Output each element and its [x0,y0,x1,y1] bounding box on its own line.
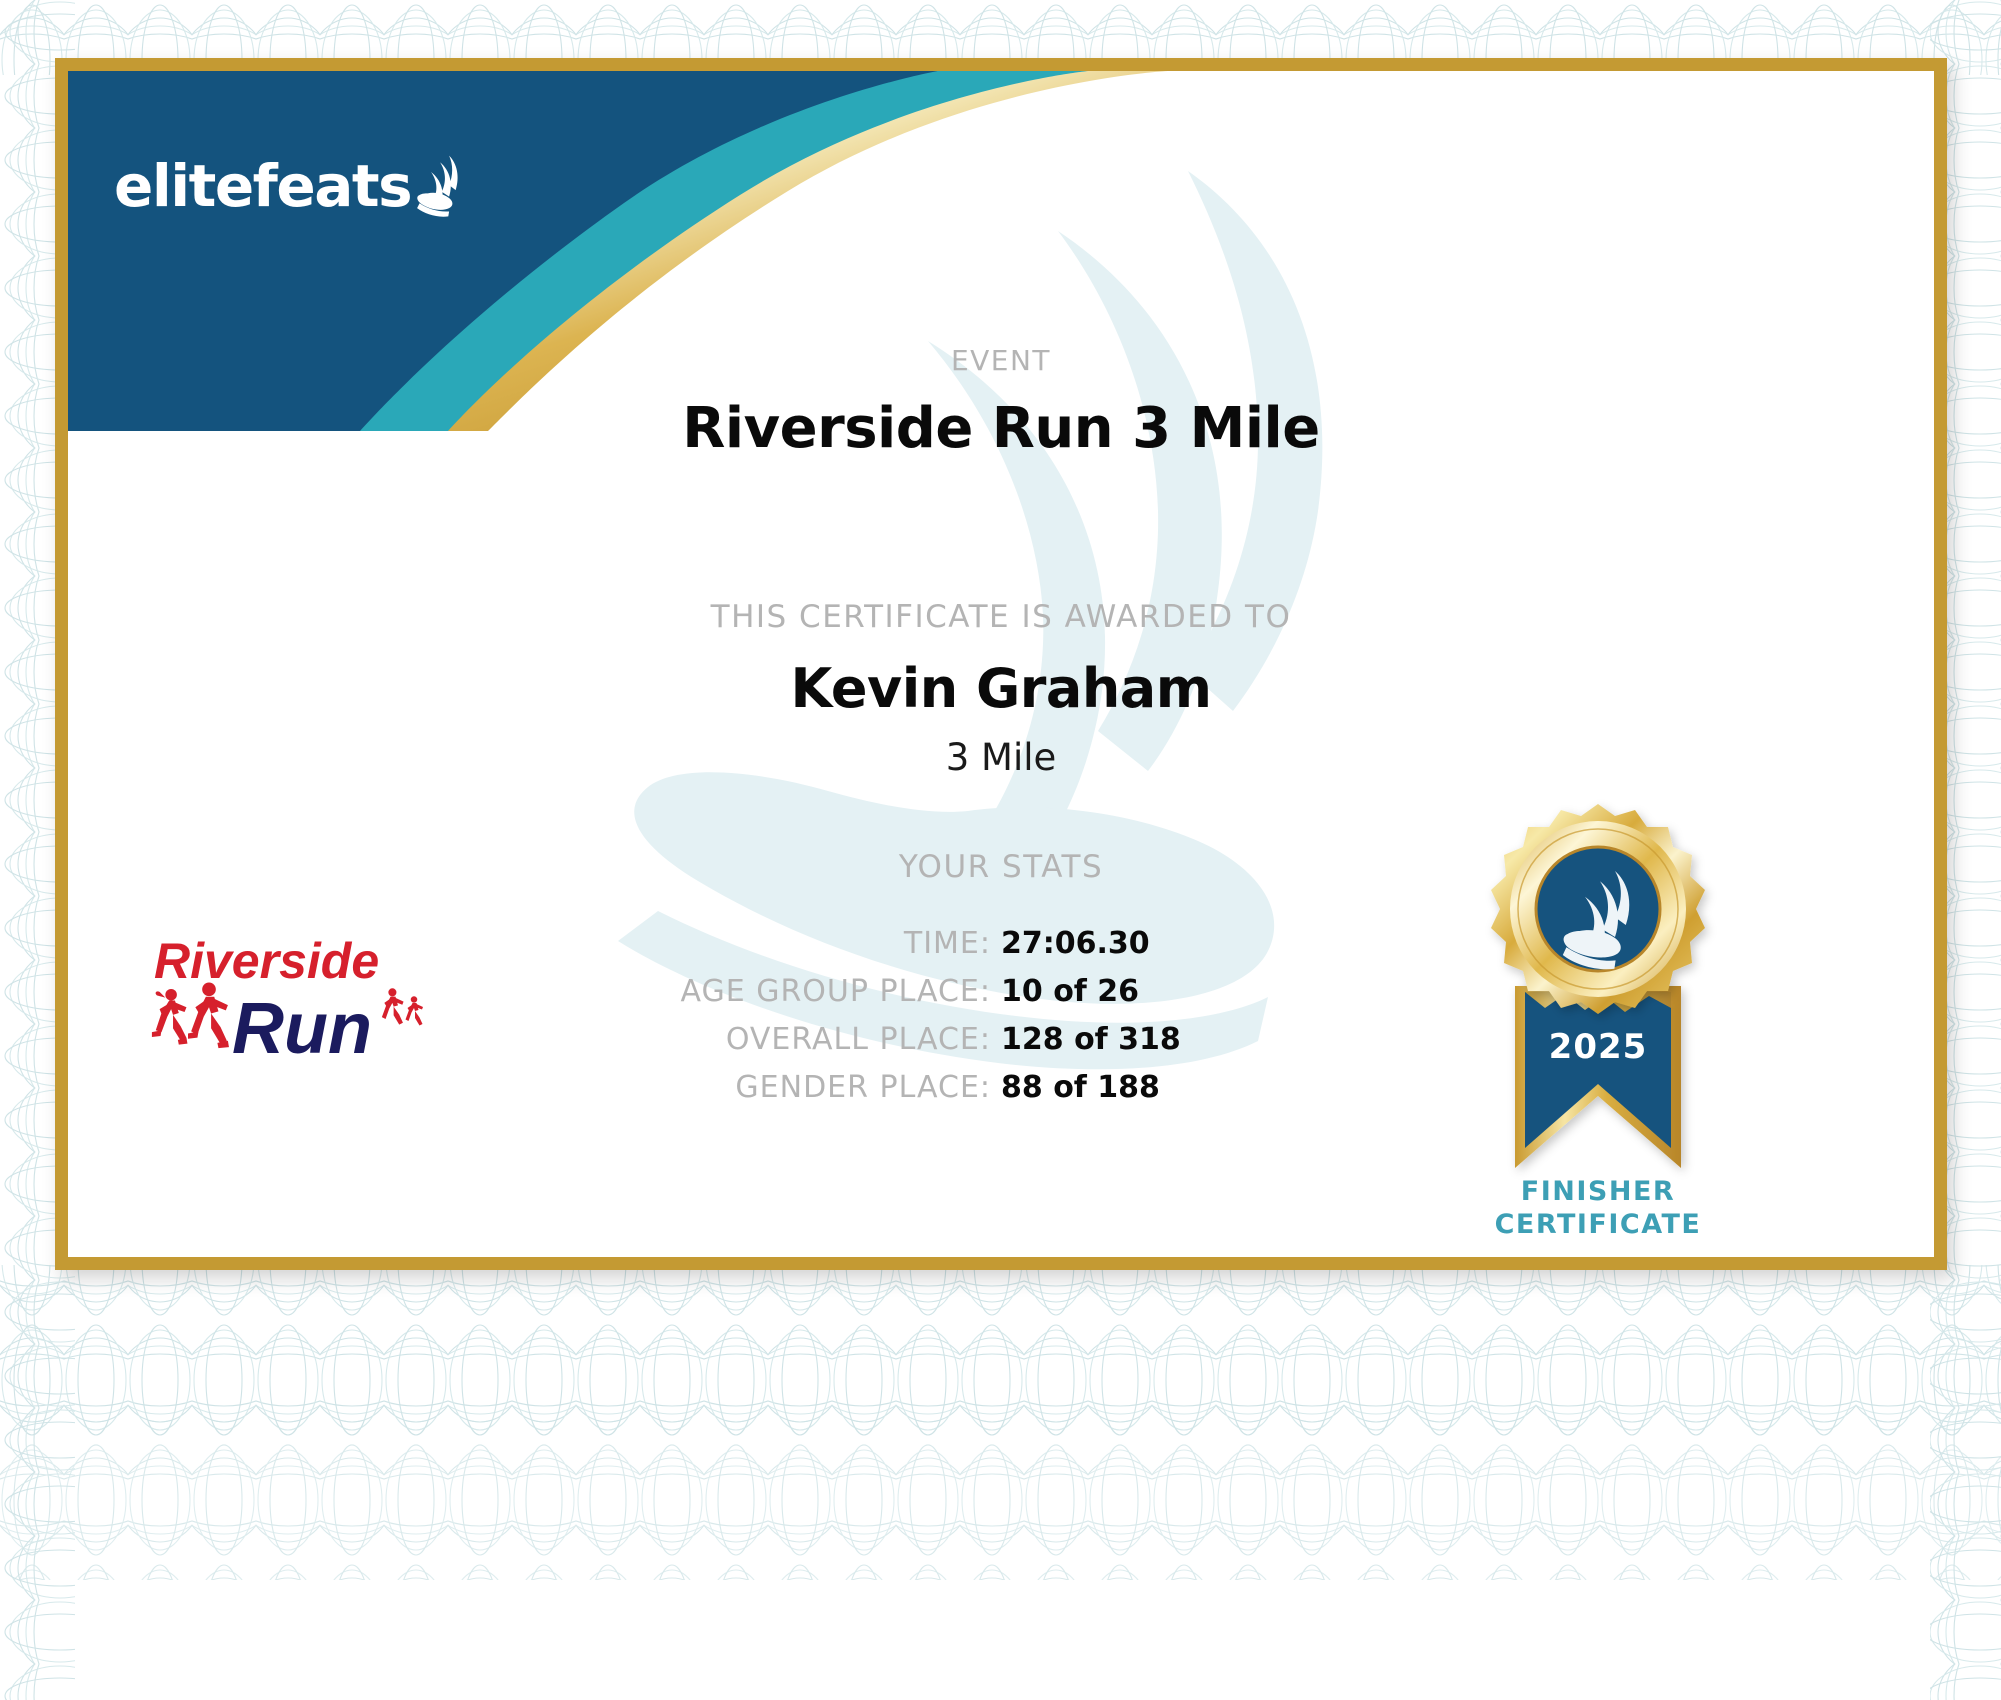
recipient-division: 3 Mile [68,736,1934,779]
stat-key: GENDER PLACE: [545,1070,1001,1105]
riverside-run-event-logo: Riverside [136,926,436,1066]
awarded-to-label: THIS CERTIFICATE IS AWARDED TO [68,599,1934,635]
certificate-body: elitefeats EVENT Riverside Run 3 Mile TH… [68,71,1934,1257]
runners-silhouette-icon [152,983,229,1049]
recipient-name: Kevin Graham [68,657,1934,720]
seal-caption: FINISHER CERTIFICATE [1428,1176,1768,1242]
stat-value: 88 of 188 [1001,1070,1457,1105]
event-logo-line2: Run [232,989,372,1066]
seal-year: 2025 [1549,1027,1648,1067]
stat-value: 10 of 26 [1001,974,1457,1009]
seal-caption-line2: CERTIFICATE [1428,1209,1768,1242]
stat-value: 128 of 318 [1001,1022,1457,1057]
event-logo-line1: Riverside [154,933,379,989]
event-name: Riverside Run 3 Mile [68,396,1934,461]
stat-key: AGE GROUP PLACE: [545,974,1001,1009]
stat-value: 27:06.30 [1001,926,1457,961]
stat-key: OVERALL PLACE: [545,1022,1001,1057]
certificate-page: elitefeats EVENT Riverside Run 3 Mile TH… [0,0,2001,1700]
seal-starburst [1491,804,1705,1014]
certificate-gold-frame: elitefeats EVENT Riverside Run 3 Mile TH… [55,58,1947,1270]
stat-key: TIME: [545,926,1001,961]
seal-caption-line1: FINISHER [1428,1176,1768,1209]
event-label: EVENT [68,344,1934,377]
